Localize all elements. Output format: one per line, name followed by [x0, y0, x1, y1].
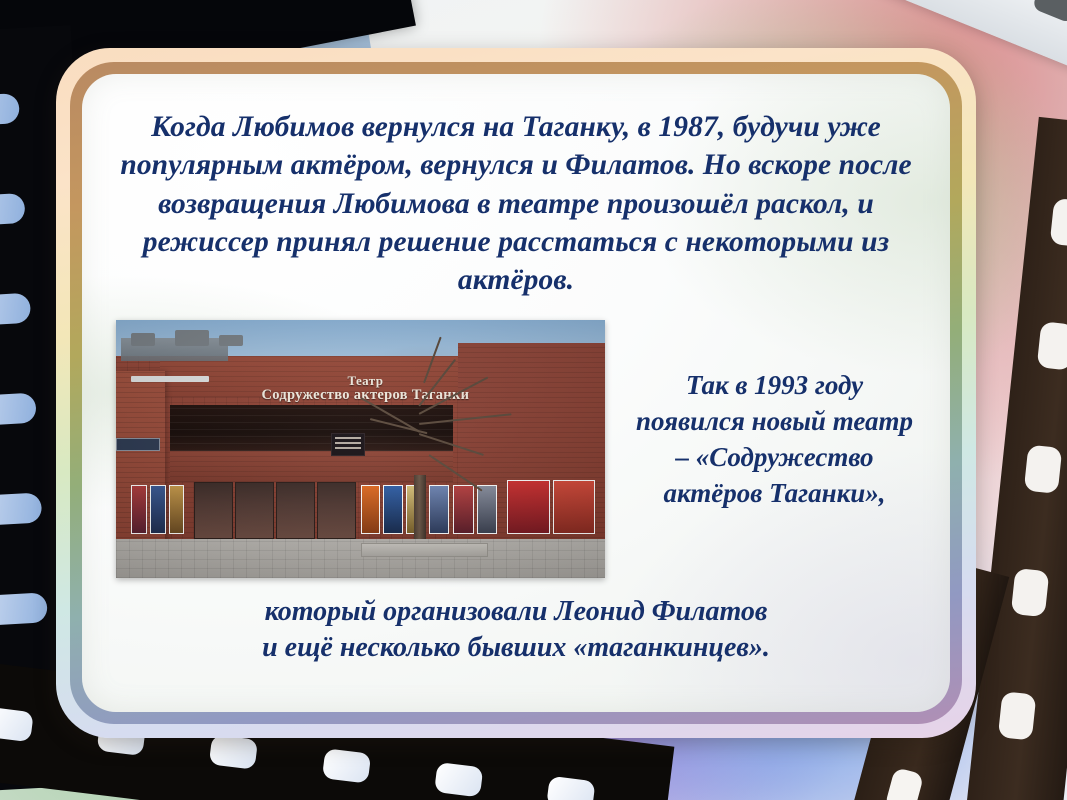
- photo-door: [194, 482, 233, 539]
- photo-tree-planter: [361, 543, 488, 557]
- sprocket-hole: [884, 767, 924, 800]
- sprocket-hole: [0, 592, 48, 628]
- photo-poster: [383, 485, 403, 534]
- sprocket-hole: [0, 193, 26, 229]
- paragraph-bottom-line2: и ещё несколько бывших «таганкинцев».: [262, 632, 770, 663]
- paragraph-top: Когда Любимов вернулся на Таганку, в 198…: [118, 108, 914, 300]
- photo-poster: [131, 485, 147, 534]
- sprocket-hole: [1037, 321, 1067, 370]
- photo-sign-text-line: [335, 437, 361, 439]
- photo-side-sign: [116, 438, 160, 451]
- sprocket-hole: [547, 776, 596, 800]
- sprocket-hole: [998, 691, 1037, 740]
- photo-poster: [169, 485, 185, 534]
- photo-sign-text-line: [335, 442, 361, 444]
- theatre-building-photo: Театр Содружество актеров Таганки: [116, 320, 605, 578]
- right-text-column: Так в 1993 году появился новый театр – «…: [605, 314, 920, 539]
- photo-tree-trunk: [414, 475, 426, 547]
- photo-poster: [507, 480, 550, 534]
- slide-canvas: Когда Любимов вернулся на Таганку, в 198…: [0, 0, 1067, 800]
- photo-roof-box: [175, 330, 209, 345]
- photo-poster-group-left: [131, 485, 185, 534]
- photo-roof-box: [219, 335, 243, 345]
- photo-poster: [429, 485, 449, 534]
- photo-white-ledge: [131, 376, 209, 382]
- photo-roof-box: [131, 333, 155, 346]
- photo-entrance-doors: [194, 482, 355, 539]
- sprocket-hole: [1011, 568, 1050, 617]
- paragraph-bottom: который организовали Леонид Филатов и ещ…: [112, 594, 920, 667]
- sprocket-hole: [0, 492, 42, 528]
- sprocket-hole: [1032, 0, 1067, 24]
- slide-frame: Когда Любимов вернулся на Таганку, в 198…: [56, 48, 976, 738]
- photo-poster-group-center: [361, 485, 449, 534]
- sprocket-hole: [1024, 445, 1063, 494]
- photo-facade-band: [170, 451, 454, 482]
- sprocket-hole: [209, 734, 258, 769]
- photo-door: [317, 482, 356, 539]
- photo-poster: [453, 485, 474, 534]
- sprocket-hole: [0, 707, 33, 742]
- photo-poster: [361, 485, 381, 534]
- sprocket-hole: [1050, 198, 1067, 247]
- sprocket-hole: [0, 293, 31, 329]
- photo-poster: [150, 485, 166, 534]
- photo-poster-group-right: [507, 480, 595, 534]
- photo-sign-text-line: [335, 447, 361, 449]
- paragraph-right: Так в 1993 году появился новый театр – «…: [629, 367, 920, 512]
- content-card: Когда Любимов вернулся на Таганку, в 198…: [82, 74, 950, 712]
- middle-row: Театр Содружество актеров Таганки: [112, 314, 920, 578]
- sprocket-hole: [322, 748, 371, 783]
- photo-poster: [477, 485, 498, 534]
- photo-door: [235, 482, 274, 539]
- photo-sign-line1: Театр: [224, 374, 508, 388]
- slide-content: Когда Любимов вернулся на Таганку, в 198…: [82, 74, 950, 712]
- photo-poster-group-mid: [453, 485, 497, 534]
- photo-poster: [553, 480, 596, 534]
- photo-door: [276, 482, 315, 539]
- photo-small-dark-sign: [331, 433, 365, 456]
- sprocket-hole: [0, 393, 37, 429]
- sprocket-hole: [434, 762, 483, 797]
- paragraph-bottom-line1: который организовали Леонид Филатов: [265, 596, 768, 627]
- sprocket-hole: [0, 93, 20, 129]
